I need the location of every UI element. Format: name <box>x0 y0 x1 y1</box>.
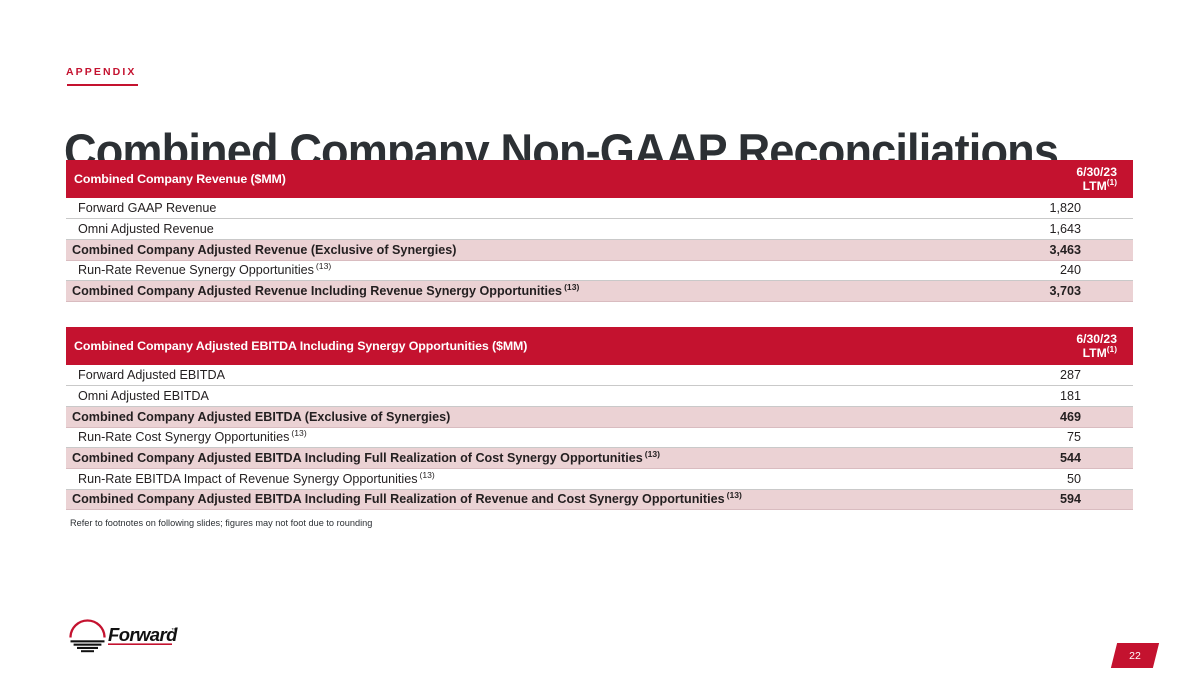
slide-footnote: Refer to footnotes on following slides; … <box>70 518 372 528</box>
table-combined-company-revenue: Combined Company Revenue ($MM) 6/30/23 L… <box>66 160 1133 302</box>
row-label-text: Run-Rate Cost Synergy Opportunities <box>78 430 289 444</box>
row-label-text: Combined Company Adjusted EBITDA (Exclus… <box>72 410 450 424</box>
row-label: Run-Rate Cost Synergy Opportunities(13) <box>66 427 996 448</box>
table-row: Run-Rate EBITDA Impact of Revenue Synerg… <box>66 468 1133 489</box>
row-value: 181 <box>996 386 1133 407</box>
forward-company-logo: Forward ™ <box>66 608 178 656</box>
table-combined-company-adjusted-ebitda: Combined Company Adjusted EBITDA Includi… <box>66 327 1133 510</box>
table-row: Combined Company Adjusted EBITDA (Exclus… <box>66 406 1133 427</box>
header-period-ltm: LTM(1) <box>996 179 1117 194</box>
row-footnote-marker: (13) <box>289 428 306 438</box>
table-row: Combined Company Adjusted Revenue Includ… <box>66 281 1133 302</box>
table-row: Forward GAAP Revenue1,820 <box>66 198 1133 219</box>
logo-arch-mark <box>71 621 105 653</box>
row-label-text: Forward Adjusted EBITDA <box>78 368 225 382</box>
table-row: Run-Rate Revenue Synergy Opportunities(1… <box>66 260 1133 281</box>
section-eyebrow-label: APPENDIX <box>66 66 136 78</box>
row-label-text: Combined Company Adjusted EBITDA Includi… <box>72 492 725 506</box>
table-header-label: Combined Company Adjusted EBITDA Includi… <box>66 327 996 365</box>
table-row: Combined Company Adjusted EBITDA Includi… <box>66 489 1133 510</box>
row-footnote-marker: (13) <box>643 449 660 459</box>
row-value: 469 <box>996 406 1133 427</box>
table-row: Forward Adjusted EBITDA287 <box>66 365 1133 386</box>
row-value: 544 <box>996 448 1133 469</box>
page-number-label: 22 <box>1114 643 1156 668</box>
row-label-text: Combined Company Adjusted EBITDA Includi… <box>72 451 643 465</box>
table-row: Omni Adjusted Revenue1,643 <box>66 219 1133 240</box>
eyebrow-underline-rule <box>67 84 138 86</box>
row-label-text: Omni Adjusted EBITDA <box>78 389 209 403</box>
table-header-row: Combined Company Adjusted EBITDA Includi… <box>66 327 1133 365</box>
row-label-text: Forward GAAP Revenue <box>78 201 216 215</box>
table-header-label: Combined Company Revenue ($MM) <box>66 160 996 198</box>
header-period-footnote-marker: (1) <box>1107 344 1117 354</box>
row-label: Run-Rate Revenue Synergy Opportunities(1… <box>66 260 996 281</box>
table-header-row: Combined Company Revenue ($MM) 6/30/23 L… <box>66 160 1133 198</box>
table-body-revenue: Forward GAAP Revenue1,820Omni Adjusted R… <box>66 198 1133 301</box>
row-label-text: Run-Rate Revenue Synergy Opportunities <box>78 263 314 277</box>
row-footnote-marker: (13) <box>314 261 331 271</box>
row-footnote-marker: (13) <box>418 470 435 480</box>
row-label: Combined Company Adjusted EBITDA Includi… <box>66 489 996 510</box>
table-row: Combined Company Adjusted Revenue (Exclu… <box>66 239 1133 260</box>
row-label: Forward GAAP Revenue <box>66 198 996 219</box>
table-header-period: 6/30/23 LTM(1) <box>996 327 1133 365</box>
slide-canvas: APPENDIX Combined Company Non-GAAP Recon… <box>0 0 1200 675</box>
row-label: Combined Company Adjusted Revenue (Exclu… <box>66 239 996 260</box>
row-label-text: Combined Company Adjusted Revenue (Exclu… <box>72 243 456 257</box>
row-value: 1,820 <box>996 198 1133 219</box>
row-value: 3,703 <box>996 281 1133 302</box>
row-value: 287 <box>996 365 1133 386</box>
row-label: Omni Adjusted EBITDA <box>66 386 996 407</box>
table-row: Omni Adjusted EBITDA181 <box>66 386 1133 407</box>
row-label: Run-Rate EBITDA Impact of Revenue Synerg… <box>66 468 996 489</box>
svg-text:Forward: Forward <box>108 624 178 645</box>
row-label-text: Combined Company Adjusted Revenue Includ… <box>72 284 562 298</box>
header-period-ltm: LTM(1) <box>996 346 1117 361</box>
table-body-ebitda: Forward Adjusted EBITDA287Omni Adjusted … <box>66 365 1133 510</box>
row-value: 75 <box>996 427 1133 448</box>
row-footnote-marker: (13) <box>562 282 579 292</box>
header-period-footnote-marker: (1) <box>1107 177 1117 187</box>
row-value: 594 <box>996 489 1133 510</box>
row-footnote-marker: (13) <box>725 490 742 500</box>
row-value: 240 <box>996 260 1133 281</box>
row-value: 1,643 <box>996 219 1133 240</box>
svg-text:™: ™ <box>171 627 177 634</box>
row-label: Combined Company Adjusted EBITDA (Exclus… <box>66 406 996 427</box>
row-label-text: Omni Adjusted Revenue <box>78 222 214 236</box>
table-row: Combined Company Adjusted EBITDA Includi… <box>66 448 1133 469</box>
row-label: Combined Company Adjusted Revenue Includ… <box>66 281 996 302</box>
row-value: 3,463 <box>996 239 1133 260</box>
table-header-period: 6/30/23 LTM(1) <box>996 160 1133 198</box>
row-label: Omni Adjusted Revenue <box>66 219 996 240</box>
row-value: 50 <box>996 468 1133 489</box>
logo-wordmark: Forward ™ <box>108 624 178 645</box>
row-label: Combined Company Adjusted EBITDA Includi… <box>66 448 996 469</box>
row-label-text: Run-Rate EBITDA Impact of Revenue Synerg… <box>78 472 418 486</box>
row-label: Forward Adjusted EBITDA <box>66 365 996 386</box>
table-row: Run-Rate Cost Synergy Opportunities(13)7… <box>66 427 1133 448</box>
